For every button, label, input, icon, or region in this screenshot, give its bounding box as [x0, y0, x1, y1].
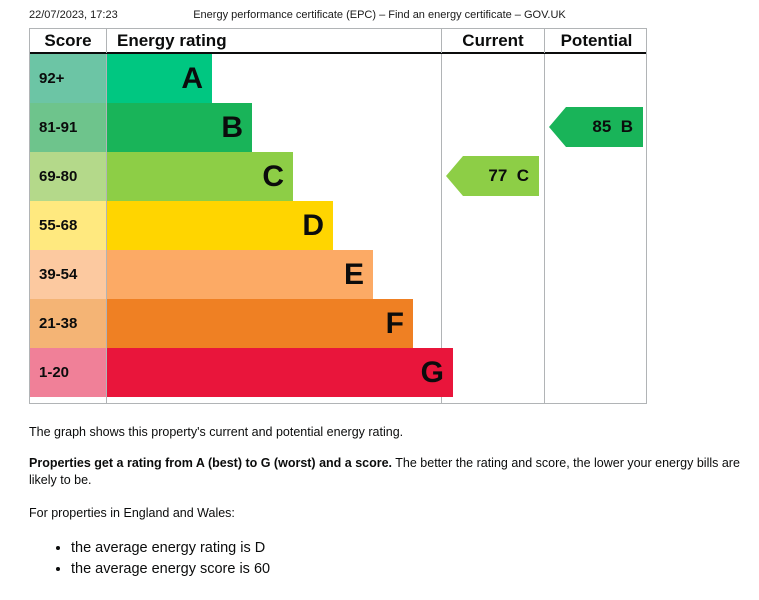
chart-explanation: The graph shows this property's current … — [29, 424, 751, 580]
explanation-rating-bold: Properties get a rating from A (best) to… — [29, 456, 392, 470]
average-list: the average energy rating is Dthe averag… — [29, 538, 751, 580]
band-bar-c: C — [107, 152, 293, 201]
column-header-rating: Energy rating — [106, 29, 441, 53]
band-score-range-e: 39-54 — [30, 250, 106, 299]
band-bar-f: F — [107, 299, 413, 348]
band-score-range-d: 55-68 — [30, 201, 106, 250]
band-bar-e: E — [107, 250, 373, 299]
epc-rating-chart: Score Energy rating Current Potential 92… — [29, 28, 647, 404]
band-score-range-f: 21-38 — [30, 299, 106, 348]
band-letter-a: A — [181, 64, 203, 94]
band-score-range-c: 69-80 — [30, 152, 106, 201]
explanation-rating: Properties get a rating from A (best) to… — [29, 455, 751, 489]
band-letter-e: E — [344, 260, 364, 290]
page-title: Energy performance certificate (EPC) – F… — [0, 9, 759, 21]
explanation-intro: The graph shows this property's current … — [29, 424, 751, 441]
chart-bands: 92+A81-91B69-80C55-68D39-54E21-38F1-20G — [30, 54, 646, 403]
column-header-score: Score — [30, 29, 106, 53]
band-score-range-g: 1-20 — [30, 348, 106, 397]
band-letter-d: D — [302, 211, 324, 241]
average-list-item: the average energy rating is D — [71, 538, 751, 559]
band-row-f: 21-38F — [30, 299, 441, 348]
band-score-range-a: 92+ — [30, 54, 106, 103]
potential-rating-marker: 85 B — [549, 107, 643, 147]
band-row-a: 92+A — [30, 54, 441, 103]
band-row-g: 1-20G — [30, 348, 441, 397]
column-header-current: Current — [441, 29, 544, 53]
band-letter-c: C — [262, 162, 284, 192]
band-score-range-b: 81-91 — [30, 103, 106, 152]
band-row-b: 81-91B — [30, 103, 441, 152]
band-row-d: 55-68D — [30, 201, 441, 250]
band-letter-f: F — [386, 309, 404, 339]
print-header: 22/07/2023, 17:23 Energy performance cer… — [0, 9, 759, 23]
band-bar-a: A — [107, 54, 212, 103]
band-letter-g: G — [421, 358, 444, 388]
band-bar-g: G — [107, 348, 453, 397]
explanation-region: For properties in England and Wales: — [29, 505, 751, 522]
band-row-c: 69-80C — [30, 152, 441, 201]
band-bar-b: B — [107, 103, 252, 152]
current-rating-marker: 77 C — [446, 156, 539, 196]
column-header-potential: Potential — [544, 29, 648, 53]
band-row-e: 39-54E — [30, 250, 441, 299]
chart-header-row: Score Energy rating Current Potential — [30, 29, 646, 54]
band-bar-d: D — [107, 201, 333, 250]
band-letter-b: B — [221, 113, 243, 143]
average-list-item: the average energy score is 60 — [71, 559, 751, 580]
